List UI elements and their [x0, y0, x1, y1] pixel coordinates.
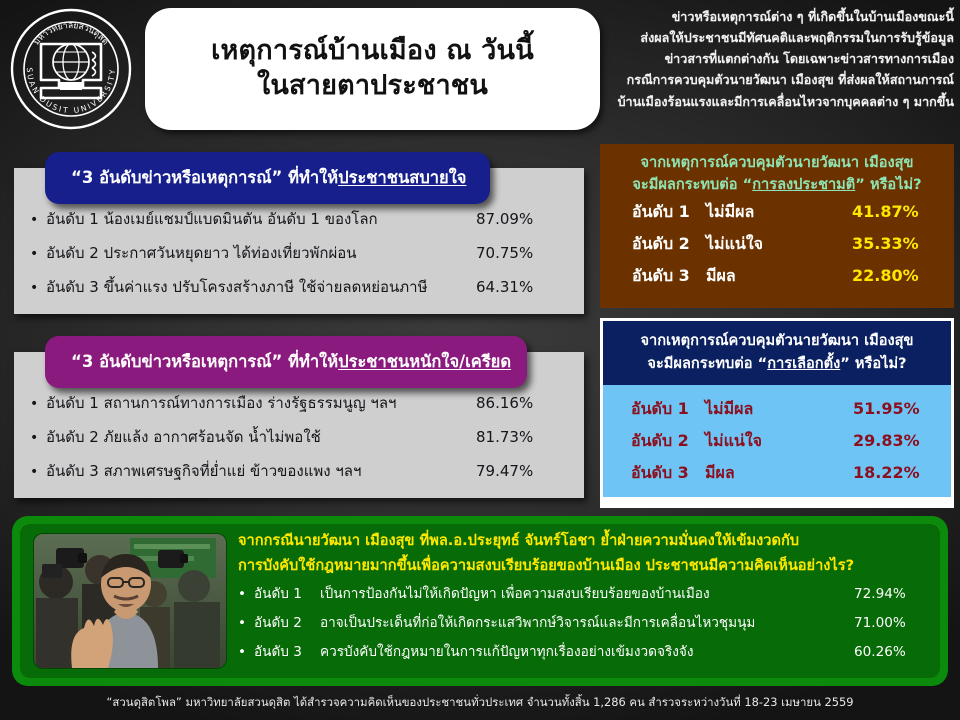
rank-label: ควรบังคับใช้กฎหมายในการแก้ปัญหาทุกเรื่อง…: [320, 640, 854, 662]
panel-heading-emphasis: การเลือกตั้ง: [767, 355, 840, 372]
bullet-glyph: •: [30, 464, 46, 480]
bullet-glyph: •: [30, 430, 46, 446]
rank-label: มีผล: [706, 264, 852, 289]
page-title-line-2: ในสายตาประชาชน: [257, 69, 488, 104]
rank-label: ไม่แน่ใจ: [705, 429, 853, 454]
rank-label: อันดับ 2 ภัยแล้ง อากาศร้อนจัด น้ำไม่พอใช…: [46, 425, 462, 449]
green-heading-line-1: จากกรณีนายวัฒนา เมืองสุข ที่พล.อ.ประยุทธ…: [238, 528, 932, 553]
panel-heading-emphasis: การลงประชามติ: [752, 176, 855, 193]
section-header-satisfied: “3 อันดับข่าวหรือเหตุการณ์” ที่ทำให้ประช…: [45, 152, 490, 204]
rank-number: อันดับ 2: [632, 232, 706, 257]
law-enforcement-opinion-panel: จากกรณีนายวัฒนา เมืองสุข ที่พล.อ.ประยุทธ…: [12, 516, 948, 686]
intro-line: กรณีการควบคุมตัวนายวัฒนา เมืองสุข ที่ส่ง…: [599, 69, 954, 90]
table-row: • อันดับ 2 ประกาศวันหยุดยาว ได้ท่องเที่ย…: [30, 236, 568, 270]
table-row: อันดับ 1 ไม่มีผล 41.87%: [610, 196, 944, 228]
rank-percent: 64.31%: [462, 278, 568, 296]
infographic-canvas: มหาวิทยาลัยสวนดุสิต SUAN DUSIT UNIVERSIT…: [0, 0, 960, 720]
rank-number: อันดับ 2: [254, 611, 320, 633]
bullet-glyph: •: [238, 615, 254, 631]
rank-number: อันดับ 1: [631, 397, 705, 422]
bullet-glyph: •: [30, 396, 46, 412]
panel-heading-line-1: จากเหตุการณ์ควบคุมตัวนายวัฒนา เมืองสุข: [610, 152, 944, 174]
rank-percent: 41.87%: [852, 202, 944, 221]
intro-line: บ้านเมืองร้อนแรงและมีการเคลื่อนไหวจากบุค…: [599, 91, 954, 112]
table-row: • อันดับ 3 ขึ้นค่าแรง ปรับโครงสร้างภาษี …: [30, 270, 568, 304]
rank-percent: 86.16%: [462, 394, 568, 412]
rank-label: อันดับ 3 ขึ้นค่าแรง ปรับโครงสร้างภาษี ใช…: [46, 275, 462, 299]
table-row: อันดับ 3 มีผล 22.80%: [610, 260, 944, 292]
rank-label: อันดับ 1 น้องเมย์แชมป์แบดมินตัน อันดับ 1…: [46, 207, 462, 231]
rank-percent: 71.00%: [854, 615, 932, 631]
rank-percent: 81.73%: [462, 428, 568, 446]
university-seal-icon: มหาวิทยาลัยสวนดุสิต SUAN DUSIT UNIVERSIT…: [8, 6, 134, 132]
table-row: • อันดับ 1 สถานการณ์ทางการเมือง ร่างรัฐธ…: [30, 386, 568, 420]
intro-line: ส่งผลให้ประชาชนมีทัศนคติและพฤติกรรมในการ…: [599, 27, 954, 48]
bullet-glyph: •: [30, 246, 46, 262]
table-row: • อันดับ 1 น้องเมย์แชมป์แบดมินตัน อันดับ…: [30, 202, 568, 236]
rank-label: อันดับ 2 ประกาศวันหยุดยาว ได้ท่องเที่ยวพ…: [46, 241, 462, 265]
table-row: อันดับ 3 มีผล 18.22%: [609, 457, 945, 489]
intro-line: ข่าวหรือเหตุการณ์ต่าง ๆ ที่เกิดขึ้นในบ้า…: [599, 6, 954, 27]
table-row: • อันดับ 2 ภัยแล้ง อากาศร้อนจัด น้ำไม่พอ…: [30, 420, 568, 454]
referendum-impact-panel: จากเหตุการณ์ควบคุมตัวนายวัฒนา เมืองสุข จ…: [600, 144, 954, 308]
table-row: • อันดับ 2 อาจเป็นประเด็นที่ก่อให้เกิดกร…: [238, 607, 932, 636]
panel-heading-line-2: จะมีผลกระทบต่อ “การเลือกตั้ง” หรือไม่?: [609, 353, 945, 376]
rank-label: อาจเป็นประเด็นที่ก่อให้เกิดกระแสวิพากษ์ว…: [320, 611, 854, 633]
rank-percent: 35.33%: [852, 234, 944, 253]
rank-percent: 22.80%: [852, 266, 944, 285]
green-heading-line-2: การบังคับใช้กฎหมายมากขึ้นเพื่อความสงบเรี…: [238, 553, 932, 578]
svg-text:SUAN DUSIT UNIVERSITY: SUAN DUSIT UNIVERSITY: [25, 67, 117, 115]
election-impact-panel: จากเหตุการณ์ควบคุมตัวนายวัฒนา เมืองสุข จ…: [600, 318, 954, 508]
rank-number: อันดับ 1: [632, 200, 706, 225]
header-region: มหาวิทยาลัยสวนดุสิต SUAN DUSIT UNIVERSIT…: [0, 0, 960, 140]
bullet-glyph: •: [238, 644, 254, 660]
section-header-emphasis: ประชาชนหนักใจ/เครียด: [338, 352, 511, 371]
table-row: • อันดับ 3 ควรบังคับใช้กฎหมายในการแก้ปัญ…: [238, 636, 932, 665]
table-row: อันดับ 1 ไม่มีผล 51.95%: [609, 393, 945, 425]
election-panel-header: จากเหตุการณ์ควบคุมตัวนายวัฒนา เมืองสุข จ…: [603, 321, 951, 385]
rank-percent: 29.83%: [853, 431, 945, 450]
university-logo: มหาวิทยาลัยสวนดุสิต SUAN DUSIT UNIVERSIT…: [8, 6, 134, 132]
table-row: อันดับ 2 ไม่แน่ใจ 29.83%: [609, 425, 945, 457]
rank-number: อันดับ 3: [631, 461, 705, 486]
rank-percent: 72.94%: [854, 586, 932, 602]
green-panel-text: จากกรณีนายวัฒนา เมืองสุข ที่พล.อ.ประยุทธ…: [238, 528, 932, 665]
rank-label: ไม่มีผล: [705, 397, 853, 422]
news-photo: [34, 534, 226, 668]
intro-line: ข่าวสารที่แตกต่างกัน โดยเฉพาะข่าวสารทางก…: [599, 48, 954, 69]
rank-percent: 51.95%: [853, 399, 945, 418]
rank-label: ไม่มีผล: [706, 200, 852, 225]
section-header-label: “3 อันดับข่าวหรือเหตุการณ์” ที่ทำให้ประช…: [71, 165, 466, 191]
footer-source-note: “สวนดุสิตโพล” มหาวิทยาลัยสวนดุสิต ได้สำร…: [0, 694, 960, 712]
rank-number: อันดับ 2: [631, 429, 705, 454]
section-header-stressed: “3 อันดับข่าวหรือเหตุการณ์” ที่ทำให้ประช…: [45, 336, 527, 388]
rank-label: มีผล: [705, 461, 853, 486]
rank-number: อันดับ 3: [254, 640, 320, 662]
green-panel-inner: จากกรณีนายวัฒนา เมืองสุข ที่พล.อ.ประยุทธ…: [20, 524, 940, 678]
news-photo-illustration: [34, 534, 226, 668]
bullet-glyph: •: [30, 280, 46, 296]
table-row: อันดับ 2 ไม่แน่ใจ 35.33%: [610, 228, 944, 260]
rank-percent: 60.26%: [854, 644, 932, 660]
rank-percent: 79.47%: [462, 462, 568, 480]
title-card: เหตุการณ์บ้านเมือง ณ วันนี้ ในสายตาประชา…: [145, 8, 600, 130]
rank-label: อันดับ 3 สภาพเศรษฐกิจที่ย่ำแย่ ข้าวของแพ…: [46, 459, 462, 483]
rank-label: เป็นการป้องกันไม่ให้เกิดปัญหา เพื่อความส…: [320, 582, 854, 604]
bullet-glyph: •: [238, 586, 254, 602]
election-panel-body: อันดับ 1 ไม่มีผล 51.95% อันดับ 2 ไม่แน่ใ…: [603, 385, 951, 497]
rank-percent: 87.09%: [462, 210, 568, 228]
bullet-glyph: •: [30, 212, 46, 228]
rank-label: อันดับ 1 สถานการณ์ทางการเมือง ร่างรัฐธรร…: [46, 391, 462, 415]
table-row: • อันดับ 1 เป็นการป้องกันไม่ให้เกิดปัญหา…: [238, 578, 932, 607]
rank-number: อันดับ 3: [632, 264, 706, 289]
rank-label: ไม่แน่ใจ: [706, 232, 852, 257]
rank-number: อันดับ 1: [254, 582, 320, 604]
panel-heading-line-2: จะมีผลกระทบต่อ “การลงประชามติ” หรือไม่?: [610, 174, 944, 196]
rank-percent: 70.75%: [462, 244, 568, 262]
panel-heading-line-1: จากเหตุการณ์ควบคุมตัวนายวัฒนา เมืองสุข: [609, 330, 945, 353]
page-title-line-1: เหตุการณ์บ้านเมือง ณ วันนี้: [211, 34, 534, 69]
rank-percent: 18.22%: [853, 463, 945, 482]
intro-paragraph: ข่าวหรือเหตุการณ์ต่าง ๆ ที่เกิดขึ้นในบ้า…: [599, 6, 954, 112]
section-header-emphasis: ประชาชนสบายใจ: [338, 168, 466, 187]
table-row: • อันดับ 3 สภาพเศรษฐกิจที่ย่ำแย่ ข้าวของ…: [30, 454, 568, 488]
section-header-label: “3 อันดับข่าวหรือเหตุการณ์” ที่ทำให้ประช…: [71, 349, 511, 375]
